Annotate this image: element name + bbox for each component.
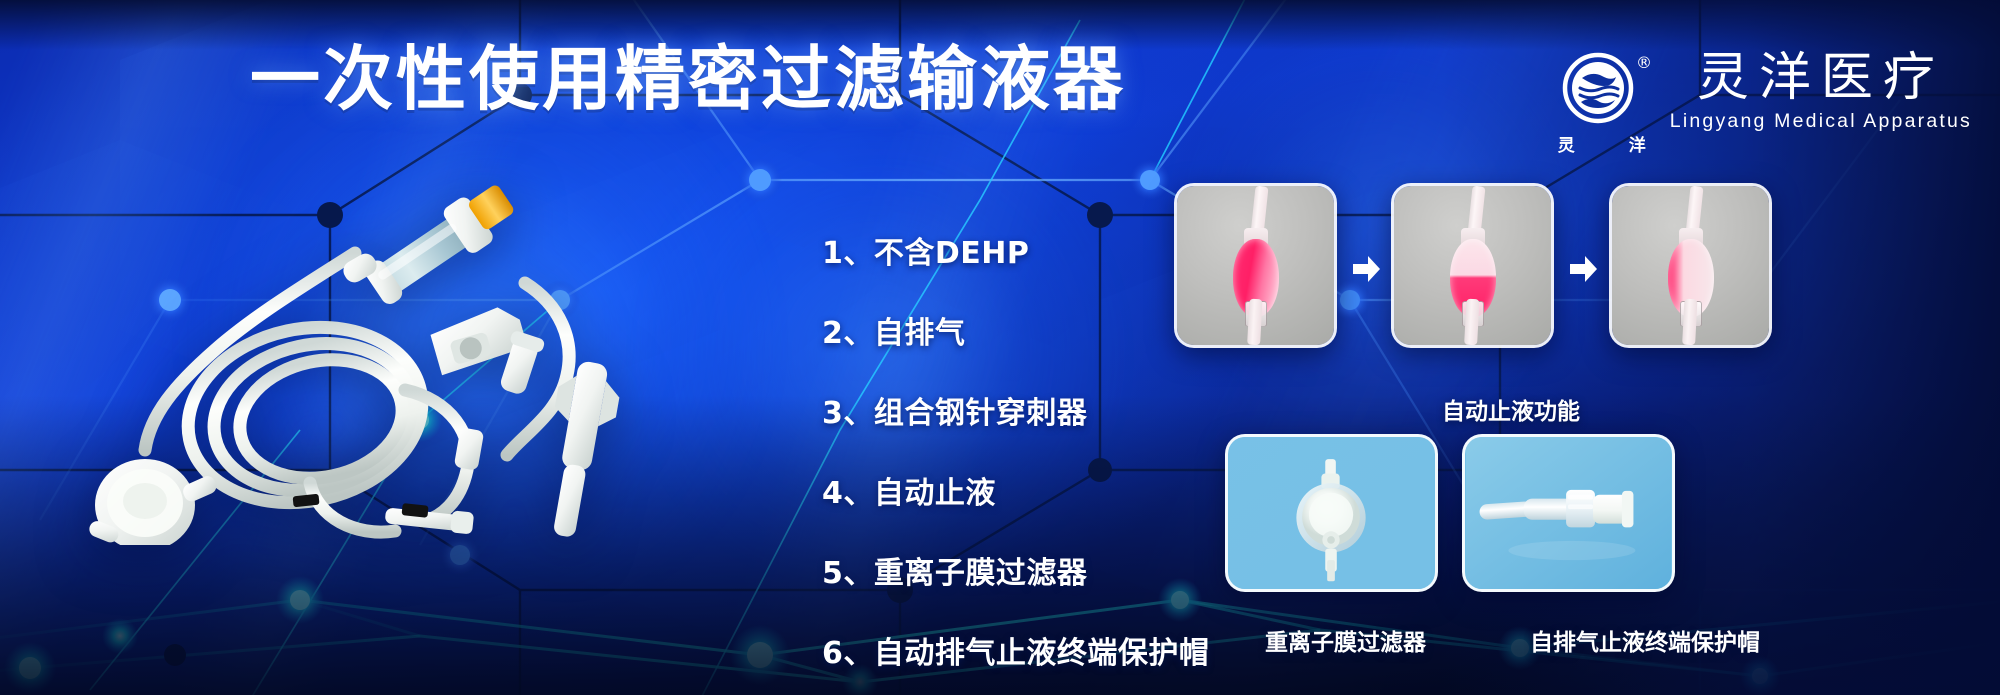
logo-emblem-icon: ® 灵 洋 xyxy=(1554,44,1650,140)
caption-auto-stop: 自动止液功能 xyxy=(1442,392,1580,426)
feature-item-6: 6、自动排气止液终端保护帽 xyxy=(822,628,1209,672)
auto-stop-photo-step-2 xyxy=(1391,183,1554,348)
caption-filter: 重离子膜过滤器 xyxy=(1265,623,1426,657)
feature-item-2: 2、自排气 xyxy=(822,308,1209,352)
product-banner: 一次性使用精密过滤输液器 ® 灵 洋 灵洋医疗 Lingyang Medical… xyxy=(0,0,2000,695)
brand-name-en: Lingyang Medical Apparatus xyxy=(1670,110,1972,133)
arrow-right-icon xyxy=(1566,252,1600,286)
brand-name-cn: 灵洋医疗 xyxy=(1697,51,1945,106)
page-title: 一次性使用精密过滤输液器 xyxy=(250,44,1126,114)
terminal-cap-photo xyxy=(1462,434,1675,592)
auto-stop-photo-step-3 xyxy=(1609,183,1772,348)
tube-lower xyxy=(1247,299,1262,346)
arrow-right-icon xyxy=(1349,252,1383,286)
feature-item-3: 3、组合钢针穿刺器 xyxy=(822,388,1209,432)
title-block: 一次性使用精密过滤输液器 xyxy=(250,44,1126,114)
brand-text: 灵洋医疗 Lingyang Medical Apparatus xyxy=(1670,51,1972,133)
logo-emblem-characters: 灵 洋 xyxy=(1554,131,1650,156)
svg-text:®: ® xyxy=(1636,53,1650,72)
feature-item-1: 1、不含DEHP xyxy=(822,228,1209,272)
infusion-set-photo xyxy=(55,165,695,545)
tube-lower xyxy=(1682,299,1697,346)
filter-photo xyxy=(1225,434,1438,592)
tube-lower xyxy=(1464,299,1479,346)
feature-item-5: 5、重离子膜过滤器 xyxy=(822,548,1209,592)
brand-logo: ® 灵 洋 灵洋医疗 Lingyang Medical Apparatus xyxy=(1554,44,1972,140)
feature-list: 1、不含DEHP 2、自排气 3、组合钢针穿刺器 4、自动止液 5、重离子膜过滤… xyxy=(822,228,1209,672)
caption-terminal-cap: 自排气止液终端保护帽 xyxy=(1530,623,1760,657)
feature-item-4: 4、自动止液 xyxy=(822,468,1209,512)
logo-char-right: 洋 xyxy=(1629,131,1646,156)
logo-char-left: 灵 xyxy=(1558,131,1575,156)
